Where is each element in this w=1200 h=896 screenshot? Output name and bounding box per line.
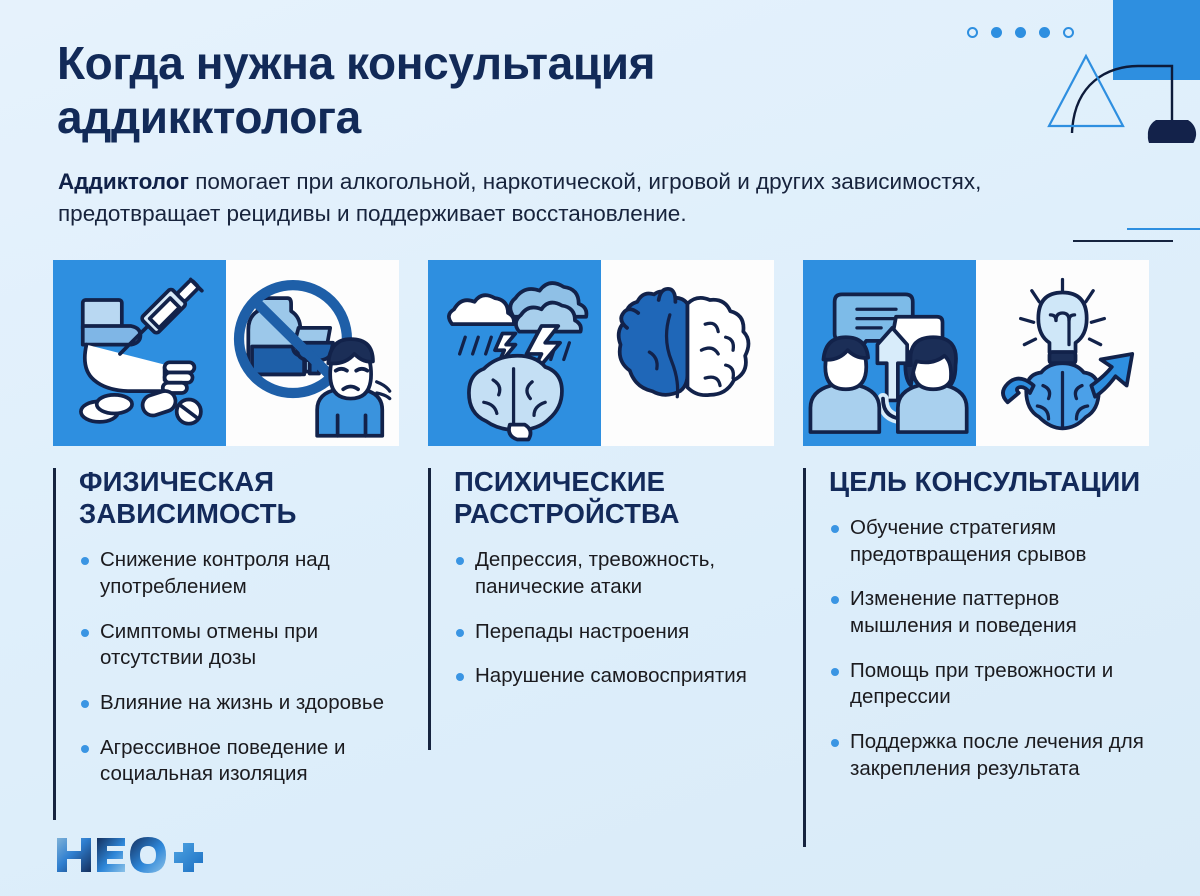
dot-icon xyxy=(991,27,1002,38)
column-heading: ЦЕЛЬ КОНСУЛЬТАЦИИ xyxy=(829,466,1149,498)
tile-group-goal xyxy=(803,260,1149,446)
column-consultation-goal: ЦЕЛЬ КОНСУЛЬТАЦИИ Обучение стратегиям пр… xyxy=(803,466,1149,866)
subtitle-rest: помогает при алкогольной, наркотической,… xyxy=(58,169,981,226)
heart-brain-halves-illustration xyxy=(601,260,774,446)
list-item: Снижение контроля над употреблением xyxy=(79,547,399,600)
column-bullet-list: Депрессия, тревожность, панические атаки… xyxy=(454,547,774,690)
brand-logo xyxy=(55,834,205,876)
brain-storm-clouds-illustration xyxy=(428,260,601,446)
list-item: Влияние на жизнь и здоровье xyxy=(79,690,399,717)
page-subtitle: Аддиктолог помогает при алкогольной, нар… xyxy=(58,166,1098,230)
list-item: Изменение паттернов мышления и поведения xyxy=(829,586,1149,639)
triangle-decoration xyxy=(1046,52,1126,130)
dots-decoration xyxy=(967,27,1074,38)
tile-group-physical xyxy=(53,260,399,446)
no-alcohol-sad-person-illustration xyxy=(226,260,399,446)
illustration-strip xyxy=(53,260,1149,446)
column-heading: ПСИХИЧЕСКИЕ РАССТРОЙСТВА xyxy=(454,466,774,530)
list-item: Симптомы отмены при отсутствии дозы xyxy=(79,619,399,672)
content-columns: ФИЗИЧЕСКАЯ ЗАВИСИМОСТЬ Снижение контроля… xyxy=(53,466,1149,866)
column-heading: ФИЗИЧЕСКАЯ ЗАВИСИМОСТЬ xyxy=(79,466,399,530)
list-item: Перепады настроения xyxy=(454,619,774,646)
list-item: Депрессия, тревожность, панические атаки xyxy=(454,547,774,600)
tile-group-mental xyxy=(428,260,774,446)
column-mental-disorders: ПСИХИЧЕСКИЕ РАССТРОЙСТВА Депрессия, трев… xyxy=(428,466,774,866)
column-bullet-list: Снижение контроля над употреблением Симп… xyxy=(79,547,399,787)
column-bullet-list: Обучение стратегиям предотвращения срыво… xyxy=(829,515,1149,782)
column-physical-dependence: ФИЗИЧЕСКАЯ ЗАВИСИМОСТЬ Снижение контроля… xyxy=(53,466,399,866)
dot-icon xyxy=(967,27,978,38)
arm-syringe-pills-illustration xyxy=(53,260,226,446)
neo-plus-logo-icon xyxy=(55,834,205,876)
people-speech-bubbles-arrow-illustration xyxy=(803,260,976,446)
infographic-poster: Когда нужна консультация аддикктолога Ад… xyxy=(0,0,1200,896)
dot-icon xyxy=(1015,27,1026,38)
list-item: Обучение стратегиям предотвращения срыво… xyxy=(829,515,1149,568)
page-title: Когда нужна консультация аддикктолога xyxy=(57,36,917,145)
list-item: Агрессивное поведение и социальная изоля… xyxy=(79,735,399,788)
list-item: Нарушение самовосприятия xyxy=(454,663,774,690)
brain-lightbulb-arrows-illustration xyxy=(976,260,1149,446)
subtitle-lead: Аддиктолог xyxy=(58,169,189,194)
dot-icon xyxy=(1039,27,1050,38)
list-item: Помощь при тревожности и депрессии xyxy=(829,658,1149,711)
list-item: Поддержка после лечения для закрепления … xyxy=(829,729,1149,782)
